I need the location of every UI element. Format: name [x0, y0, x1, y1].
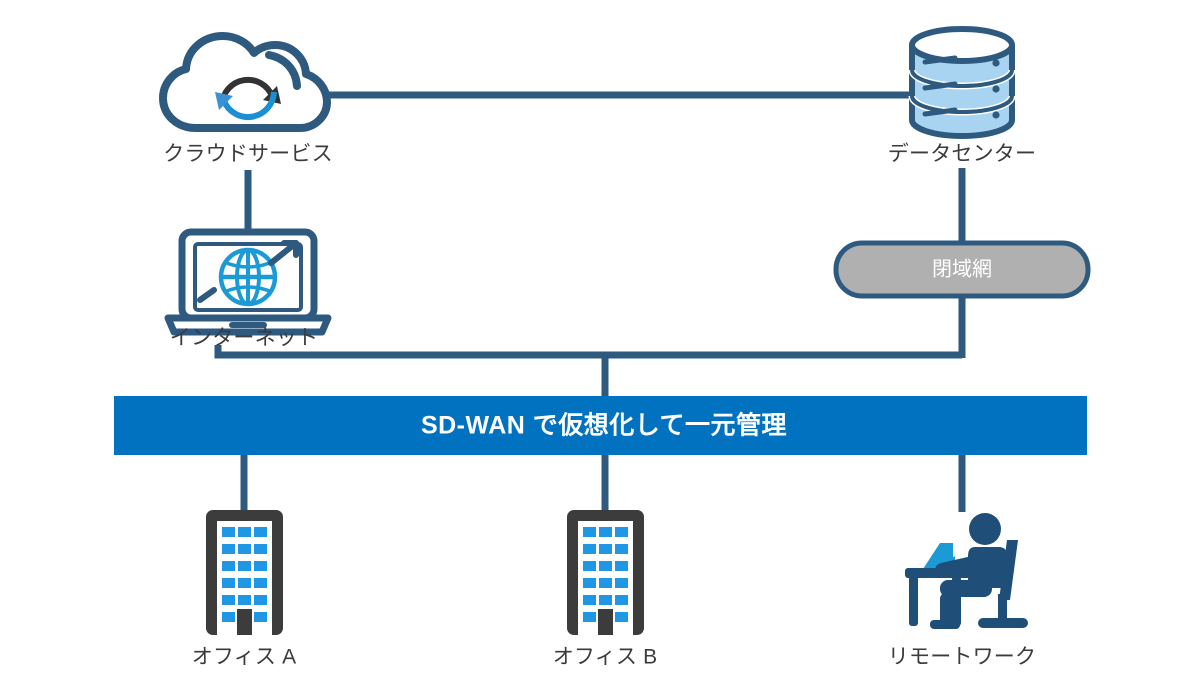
datacenter-label: データセンター — [888, 143, 1036, 166]
node-office-b[interactable]: オフィス B — [553, 510, 658, 669]
node-datacenter[interactable]: データセンター — [888, 29, 1036, 166]
sdwan-banner-label: SD-WAN で仮想化して一元管理 — [421, 411, 787, 440]
office-b-label: オフィス B — [553, 646, 658, 669]
cloud-sync-icon — [163, 36, 327, 128]
office-a-label: オフィス A — [192, 646, 297, 669]
node-closed-network[interactable]: 閉域網 — [836, 243, 1088, 296]
closed-network-label: 閉域網 — [932, 257, 992, 280]
office-building-icon — [567, 510, 644, 635]
office-building-icon — [206, 510, 283, 635]
internet-label: インターネット — [170, 327, 318, 350]
cloud-service-label: クラウドサービス — [163, 143, 333, 166]
node-internet[interactable]: インターネット — [168, 232, 328, 350]
sdwan-banner[interactable]: SD-WAN で仮想化して一元管理 — [114, 396, 1087, 455]
database-stack-icon — [912, 29, 1012, 136]
remote-work-label: リモートワーク — [888, 646, 1036, 669]
network-diagram: クラウドサービス デー — [0, 0, 1200, 700]
laptop-globe-icon — [168, 232, 328, 332]
node-office-a[interactable]: オフィス A — [192, 510, 297, 669]
diagram-canvas: クラウドサービス デー — [0, 0, 1200, 700]
link-internet-to-bus — [218, 345, 962, 355]
node-cloud-service[interactable]: クラウドサービス — [163, 36, 333, 166]
node-remote-work[interactable]: リモートワーク — [888, 513, 1036, 669]
globe-glyph — [221, 250, 275, 304]
person-desk-laptop-icon — [905, 513, 1028, 629]
